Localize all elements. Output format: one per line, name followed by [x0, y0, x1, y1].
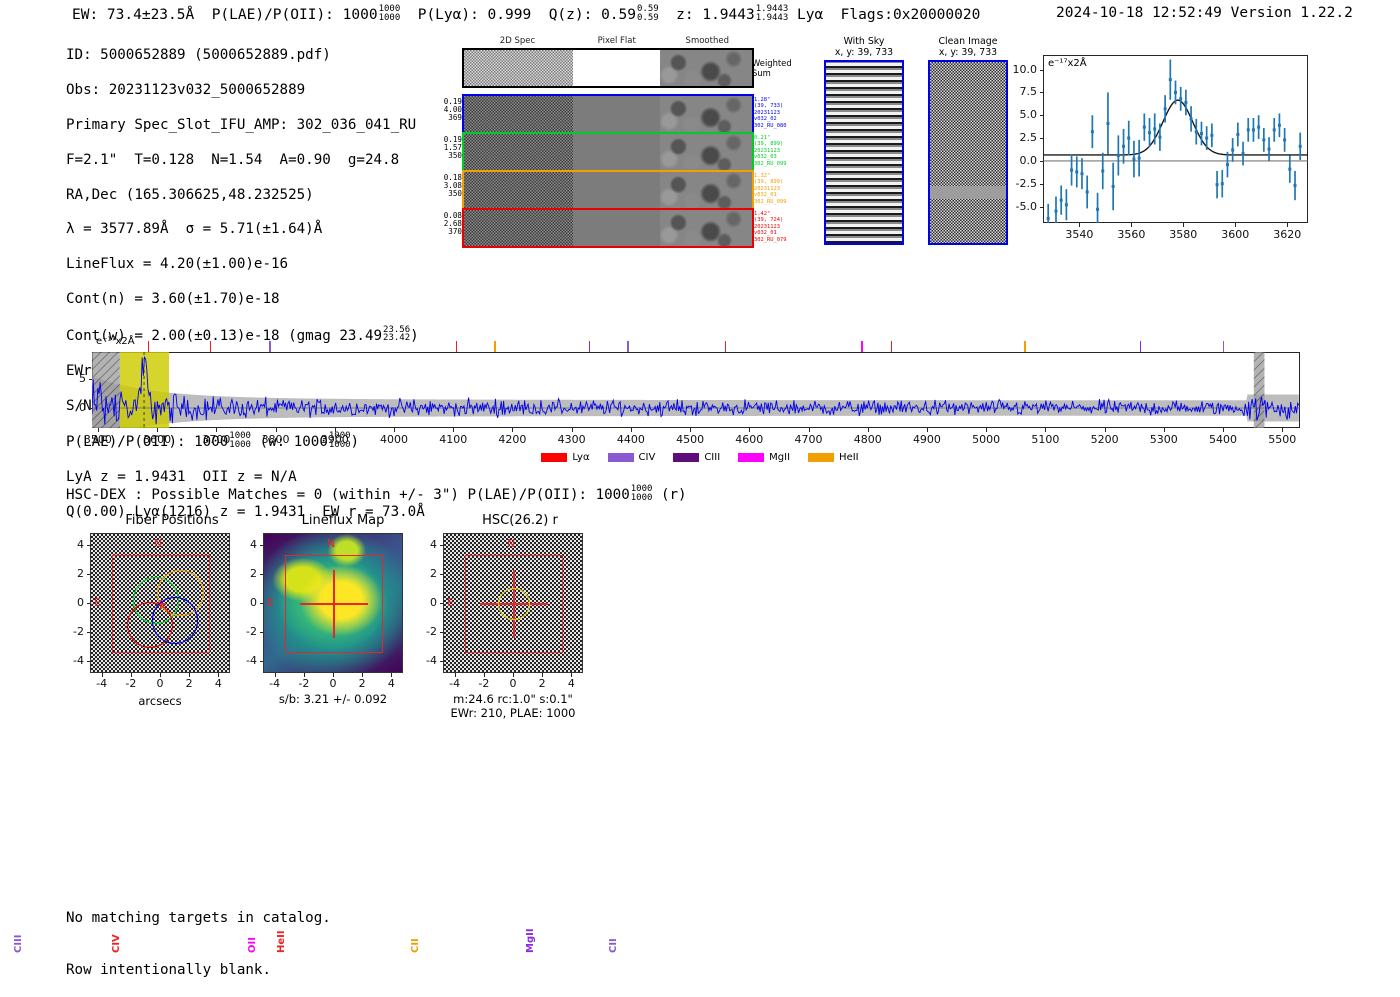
fullspec-xtick [1282, 428, 1283, 432]
header-plae-label: P(LAE)/P(OII): 1000 [212, 7, 378, 23]
hscdex-prefix: HSC-DEX : Possible Matches = 0 (within +… [66, 487, 630, 503]
fiber-positions-title: Fiber Positions [72, 513, 272, 528]
hsc-axis-yticklabel: -2 [415, 625, 437, 638]
lf-axis-xtick [333, 673, 334, 677]
fullspec-xtick [1105, 428, 1106, 432]
emission-line-label-CII: CII [608, 938, 1223, 953]
legend-swatch-HeII [808, 453, 834, 462]
linefit-ytick [1040, 138, 1044, 139]
cutout-with-sky: With Sky x, y: 39, 733 [824, 36, 904, 245]
full-spectrum-canvas [92, 352, 1300, 428]
lf-axis-yticklabel: 0 [235, 596, 257, 609]
lineflux-map-title: Lineflux Map [243, 513, 443, 528]
info-cont-n: Cont(n) = 3.60(±1.70)e-18 [66, 291, 425, 308]
hsc-axis-xtick [571, 673, 572, 677]
fullspec-xtick [335, 428, 336, 432]
lineflux-caption: s/b: 3.21 +/- 0.092 [253, 692, 413, 706]
fiber-row-2: 0.191.573500.21"(39, 899)20231123v032_03… [462, 132, 754, 172]
emission-line-tick-CIII [494, 341, 495, 352]
fullspec-xticklabel: 3900 [313, 433, 357, 446]
emission-line-tick-OII [861, 341, 862, 352]
lf-axis-yticklabel: 4 [235, 538, 257, 551]
hsc-axis-xtick [455, 673, 456, 677]
lf-axis-xticklabel: -2 [289, 677, 319, 690]
fiber-row-1-notes: 1.28"(39, 733)20231123v032_02302_RU_080 [754, 97, 800, 129]
fiber-row-1-smoothed [660, 96, 752, 132]
fiber-row-3-2dspec [464, 172, 573, 208]
lf-axis-xticklabel: 4 [376, 677, 406, 690]
header-qz-fraction: 0.590.59 [637, 5, 659, 22]
legend-label-CIV: CIV [639, 452, 656, 463]
fullspec-xtick [690, 428, 691, 432]
linefit-xticklabel: 3540 [1061, 228, 1097, 241]
fiber-axis-ytick [87, 661, 91, 662]
linefit-ytick [1040, 207, 1044, 208]
hsc-axis-xticklabel: 2 [527, 677, 557, 690]
lf-axis-xtick [304, 673, 305, 677]
lf-axis-xtick [362, 673, 363, 677]
fullspec-xticklabel: 4300 [550, 433, 594, 446]
col-header-smoothed: Smoothed [661, 36, 754, 46]
fiber-row-4-notes: 1.42"(39, 724)20231123v032_01302_RU_079 [754, 211, 800, 243]
hsc-axis-ytick [440, 632, 444, 633]
lf-axis-xtick [275, 673, 276, 677]
emission-line-tick-CIII [627, 341, 628, 352]
hsc-axis-ytick [440, 603, 444, 604]
fiber-axis-xtick [218, 673, 219, 677]
fullspec-xtick [749, 428, 750, 432]
lf-axis-xticklabel: 2 [347, 677, 377, 690]
fiber-positions-image[interactable]: N E [90, 533, 230, 673]
with-sky-image [824, 60, 904, 245]
panel-lineflux-map: Lineflux Map [243, 513, 443, 528]
fiber-row-2-smoothed [660, 134, 752, 170]
info-seeing-params: F=2.1" T=0.128 N=1.54 A=0.90 g=24.8 [66, 152, 425, 169]
footer-line-1: No matching targets in catalog. [66, 910, 331, 927]
full-spectrum-units-label: e⁻¹⁷x2Å [96, 336, 135, 347]
weighted-sum-2dspec [464, 50, 573, 86]
fiber-axis-ytick [87, 603, 91, 604]
fullspec-xticklabel: 4200 [490, 433, 534, 446]
fiber-row-4-smoothed [660, 210, 752, 246]
legend-entry-HeII: HeII [808, 452, 859, 463]
fullspec-ytick [89, 379, 93, 380]
fullspec-xticklabel: 3500 [76, 433, 120, 446]
hsc-caption-2: EWr: 210, PLAE: 1000 [433, 706, 593, 720]
emission-line-tick-HeII [269, 341, 270, 352]
linefit-xtick [1287, 223, 1288, 227]
lf-axis-xticklabel: 0 [318, 677, 348, 690]
legend-swatch-MgII [738, 453, 764, 462]
hsc-axis-ytick [440, 574, 444, 575]
fiber-axis-xticklabel: -4 [87, 677, 117, 690]
fiber-axis-ytick [87, 545, 91, 546]
hsc-axis-xticklabel: -2 [469, 677, 499, 690]
header-ew: EW: 73.4±23.5Å [72, 7, 194, 23]
lineflux-map-image[interactable]: N E [263, 533, 403, 673]
hsc-axis-yticklabel: 4 [415, 538, 437, 551]
spec2d-montage: 2D Spec Pixel Flat Smoothed Weighted Sum… [462, 36, 754, 246]
lf-axis-yticklabel: -4 [235, 654, 257, 667]
fiber-axis-yticklabel: 2 [62, 567, 84, 580]
hsc-image[interactable]: N E [443, 533, 583, 673]
hscdex-plae-fraction: 10001000 [631, 485, 653, 502]
fiber-axis-xtick [189, 673, 190, 677]
hsc-axis-ytick [440, 661, 444, 662]
linefit-ytick [1040, 115, 1044, 116]
lf-axis-ytick [260, 603, 264, 604]
fiber-axis-yticklabel: -2 [62, 625, 84, 638]
linefit-xticklabel: 3580 [1165, 228, 1201, 241]
compass-east-fiber: E [94, 596, 101, 609]
linefit-xticklabel: 3560 [1113, 228, 1149, 241]
fiber-row-1-pixelflat [573, 96, 659, 132]
legend-label-HeII: HeII [839, 452, 859, 463]
linefit-yticklabel: -5.0 [995, 200, 1037, 213]
fullspec-xtick [572, 428, 573, 432]
lineflux-crosshair-v [333, 570, 335, 638]
fullspec-yticklabel: 0 [70, 401, 86, 414]
fiber-row-3-labels: 0.183.08350 [438, 174, 462, 199]
hsc-axis-xtick [513, 673, 514, 677]
line-fit-plot: e⁻¹⁷x2Å 35403560358036003620-5.0-2.50.02… [1043, 55, 1308, 223]
hsc-axis-yticklabel: 2 [415, 567, 437, 580]
fullspec-xtick [453, 428, 454, 432]
fiber-axis-xticklabel: 4 [203, 677, 233, 690]
header-z-fraction: 1.94431.9443 [756, 5, 789, 22]
fullspec-xtick [1045, 428, 1046, 432]
info-id: ID: 5000652889 (5000652889.pdf) [66, 47, 425, 64]
fiber-row-4-labels: 0.082.68370 [438, 212, 462, 237]
emission-line-tick-SiIV [456, 341, 457, 352]
linefit-yticklabel: 5.0 [995, 108, 1037, 121]
header-plya: P(Lyα): 0.999 [418, 7, 532, 23]
info-primary-spec: Primary Spec_Slot_IFU_AMP: 302_036_041_R… [66, 117, 425, 134]
legend-swatch-CIV [608, 453, 634, 462]
legend-entry-MgII: MgII [738, 452, 790, 463]
emission-line-tick-CII [1024, 341, 1025, 352]
fiber-axis-xticklabel: 0 [145, 677, 175, 690]
hsc-axis-xtick [542, 673, 543, 677]
fiber-row-2-2dspec [464, 134, 573, 170]
lf-axis-ytick [260, 545, 264, 546]
fiber-row-3-pixelflat [573, 172, 659, 208]
with-sky-title: With Sky x, y: 39, 733 [824, 36, 904, 58]
fiber-row-3: 0.183.083501.32"(39, 899)20231123v032_01… [462, 170, 754, 210]
info-wavelength-sigma: λ = 3577.89Å σ = 5.71(±1.64)Å [66, 221, 425, 238]
linefit-ytick [1040, 161, 1044, 162]
info-lineflux: LineFlux = 4.20(±1.00)e-16 [66, 256, 425, 273]
lf-axis-ytick [260, 661, 264, 662]
footer-line-2: Row intentionally blank. [66, 962, 331, 979]
fullspec-xticklabel: 4400 [609, 433, 653, 446]
compass-east-lineflux: E [267, 596, 274, 609]
fiber-row-3-notes: 1.32"(39, 899)20231123v032_01302_RU_099 [754, 173, 800, 205]
lf-axis-yticklabel: 2 [235, 567, 257, 580]
fullspec-xtick [927, 428, 928, 432]
fullspec-xtick [1164, 428, 1165, 432]
linefit-ytick [1040, 70, 1044, 71]
fullspec-xtick [809, 428, 810, 432]
fullspec-xticklabel: 3600 [135, 433, 179, 446]
linefit-ytick [1040, 92, 1044, 93]
info-obs: Obs: 20231123v032_5000652889 [66, 82, 425, 99]
fullspec-ytick [89, 408, 93, 409]
info-gmag-fraction: 23.5623.42 [383, 326, 410, 343]
fullspec-xticklabel: 4000 [372, 433, 416, 446]
linefit-yticklabel: 2.5 [995, 131, 1037, 144]
hsc-axis-yticklabel: -4 [415, 654, 437, 667]
fiber-row-4-pixelflat [573, 210, 659, 246]
fiber-axis-xticklabel: 2 [174, 677, 204, 690]
fullspec-xticklabel: 3700 [194, 433, 238, 446]
emission-line-tick-CIV [725, 341, 726, 352]
legend-entry-CIV: CIV [608, 452, 656, 463]
fullspec-xticklabel: 4800 [846, 433, 890, 446]
fiber-row-1: 0.194.003691.28"(39, 733)20231123v032_02… [462, 94, 754, 134]
linefit-xtick [1131, 223, 1132, 227]
legend-entry-CIII: CIII [673, 452, 720, 463]
hsc-caption-1: m:24.6 rc:1.0" s:0.1" [433, 692, 593, 706]
fiber-axis-yticklabel: 0 [62, 596, 84, 609]
fullspec-xticklabel: 5500 [1260, 433, 1304, 446]
hsc-axis-xticklabel: -4 [440, 677, 470, 690]
panel-hsc-r: HSC(26.2) r [420, 513, 620, 528]
header-flags: Flags:0x20000020 [841, 7, 981, 23]
legend-swatch-Lyα [541, 453, 567, 462]
emission-line-tick-CII [589, 341, 590, 352]
fiber-row-1-2dspec [464, 96, 573, 132]
fullspec-xticklabel: 5200 [1083, 433, 1127, 446]
header-summary-line: EW: 73.4±23.5Å P(LAE)/P(OII): 1000100010… [72, 5, 980, 23]
clean-image-title: Clean Image x, y: 39, 733 [928, 36, 1008, 58]
full-spectrum-plot: e⁻¹⁷x2Å 35003600370038003900400041004200… [92, 352, 1300, 428]
hscdex-suffix: (r) [652, 487, 686, 503]
compass-north-lineflux: N [327, 537, 335, 550]
header-z-label: z: 1.9443 [676, 7, 755, 23]
lf-axis-xticklabel: -4 [260, 677, 290, 690]
legend-label-Lyα: Lyα [572, 452, 589, 463]
fullspec-xtick [276, 428, 277, 432]
linefit-yticklabel: 7.5 [995, 85, 1037, 98]
fiber-axis-xtick [131, 673, 132, 677]
emission-line-tick-NV [148, 341, 149, 352]
linefit-xtick [1079, 223, 1080, 227]
fullspec-xticklabel: 5300 [1142, 433, 1186, 446]
hsc-axis-xticklabel: 0 [498, 677, 528, 690]
fullspec-xticklabel: 5000 [964, 433, 1008, 446]
fullspec-xticklabel: 4500 [668, 433, 712, 446]
fullspec-xtick [868, 428, 869, 432]
hscdex-match-line: HSC-DEX : Possible Matches = 0 (within +… [66, 485, 687, 503]
hsc-axis-ytick [440, 545, 444, 546]
hsc-axis-xticklabel: 4 [556, 677, 586, 690]
info-radec: RA,Dec (165.306625,48.232525) [66, 187, 425, 204]
fiber-row-2-pixelflat [573, 134, 659, 170]
header-lya: Lyα [797, 7, 823, 23]
compass-east-hsc: E [447, 596, 454, 609]
fullspec-xtick [98, 428, 99, 432]
fiber-axis-xticklabel: -2 [116, 677, 146, 690]
fullspec-yticklabel: 5 [70, 372, 86, 385]
fiber-row-4: 0.082.683701.42"(39, 724)20231123v032_01… [462, 208, 754, 248]
fullspec-xtick [986, 428, 987, 432]
emission-line-tick-CII [1223, 341, 1224, 352]
col-header-2dspec: 2D Spec [462, 36, 573, 46]
linefit-xtick [1183, 223, 1184, 227]
linefit-xtick [1235, 223, 1236, 227]
fiber-row-1-labels: 0.194.00369 [438, 98, 462, 123]
header-plae-fraction: 10001000 [379, 5, 401, 22]
weighted-sum-label: Weighted Sum [752, 58, 788, 78]
spec2d-column-headers: 2D Spec Pixel Flat Smoothed [462, 36, 754, 46]
lf-axis-xtick [391, 673, 392, 677]
emission-line-tick-HeII [891, 341, 892, 352]
fiber-axis-yticklabel: 4 [62, 538, 84, 551]
fullspec-xticklabel: 5400 [1201, 433, 1245, 446]
compass-north-hsc: N [507, 537, 515, 550]
lf-axis-yticklabel: -2 [235, 625, 257, 638]
fiber-row-2-labels: 0.191.57350 [438, 136, 462, 161]
fiber-xlabel: arcsecs [90, 694, 230, 708]
fiber-axis-ytick [87, 632, 91, 633]
linefit-xticklabel: 3600 [1217, 228, 1253, 241]
fullspec-xtick [631, 428, 632, 432]
linefit-ytick [1040, 184, 1044, 185]
fullspec-xticklabel: 4600 [727, 433, 771, 446]
linefit-xticklabel: 3620 [1269, 228, 1305, 241]
legend-swatch-CIII [673, 453, 699, 462]
fullspec-xticklabel: 3800 [254, 433, 298, 446]
emission-line-tick-SiII [210, 341, 211, 352]
weighted-sum-pixelflat [573, 50, 659, 86]
fullspec-xticklabel: 4700 [787, 433, 831, 446]
fullspec-xticklabel: 4100 [431, 433, 475, 446]
timestamp-version: 2024-10-18 12:52:49 Version 1.22.2 [1056, 5, 1353, 21]
fiber-row-2-notes: 0.21"(39, 899)20231123v032_03302_RU_099 [754, 135, 800, 167]
emission-line-tick-MgII [1140, 341, 1141, 352]
fiber-row-4-2dspec [464, 210, 573, 246]
lf-axis-ytick [260, 574, 264, 575]
footer-note: No matching targets in catalog. Row inte… [66, 875, 331, 997]
fullspec-xticklabel: 4900 [905, 433, 949, 446]
fiber-axis-yticklabel: -4 [62, 654, 84, 667]
fiber-circle-4 [152, 597, 199, 644]
fullspec-xticklabel: 5100 [1023, 433, 1067, 446]
fiber-axis-xtick [160, 673, 161, 677]
compass-north-fiber: N [154, 537, 162, 550]
fullspec-xtick [216, 428, 217, 432]
linefit-yticklabel: 10.0 [995, 63, 1037, 76]
weighted-sum-smoothed [660, 50, 752, 86]
fiber-axis-ytick [87, 574, 91, 575]
line-fit-canvas [1043, 55, 1308, 223]
linefit-yticklabel: -2.5 [995, 177, 1037, 190]
panel-fiber-positions: Fiber Positions [72, 513, 272, 528]
fullspec-xtick [394, 428, 395, 432]
fiber-axis-xtick [102, 673, 103, 677]
hsc-aperture-circle [498, 588, 530, 620]
hsc-axis-yticklabel: 0 [415, 596, 437, 609]
col-header-pixelflat: Pixel Flat [573, 36, 661, 46]
fullspec-xtick [157, 428, 158, 432]
fullspec-xtick [1223, 428, 1224, 432]
header-qz-label: Q(z): 0.59 [549, 7, 636, 23]
hsc-axis-xtick [484, 673, 485, 677]
weighted-sum-row: Weighted Sum [462, 48, 754, 88]
lf-axis-ytick [260, 632, 264, 633]
legend-label-CIII: CIII [704, 452, 720, 463]
fullspec-xtick [512, 428, 513, 432]
emission-line-legend: LyαCIVCIIIMgIIHeII [0, 452, 1400, 463]
linefit-yticklabel: 0.0 [995, 154, 1037, 167]
legend-label-MgII: MgII [769, 452, 790, 463]
hsc-title: HSC(26.2) r [420, 513, 620, 528]
legend-entry-Lyα: Lyα [541, 452, 589, 463]
fiber-row-3-smoothed [660, 172, 752, 208]
